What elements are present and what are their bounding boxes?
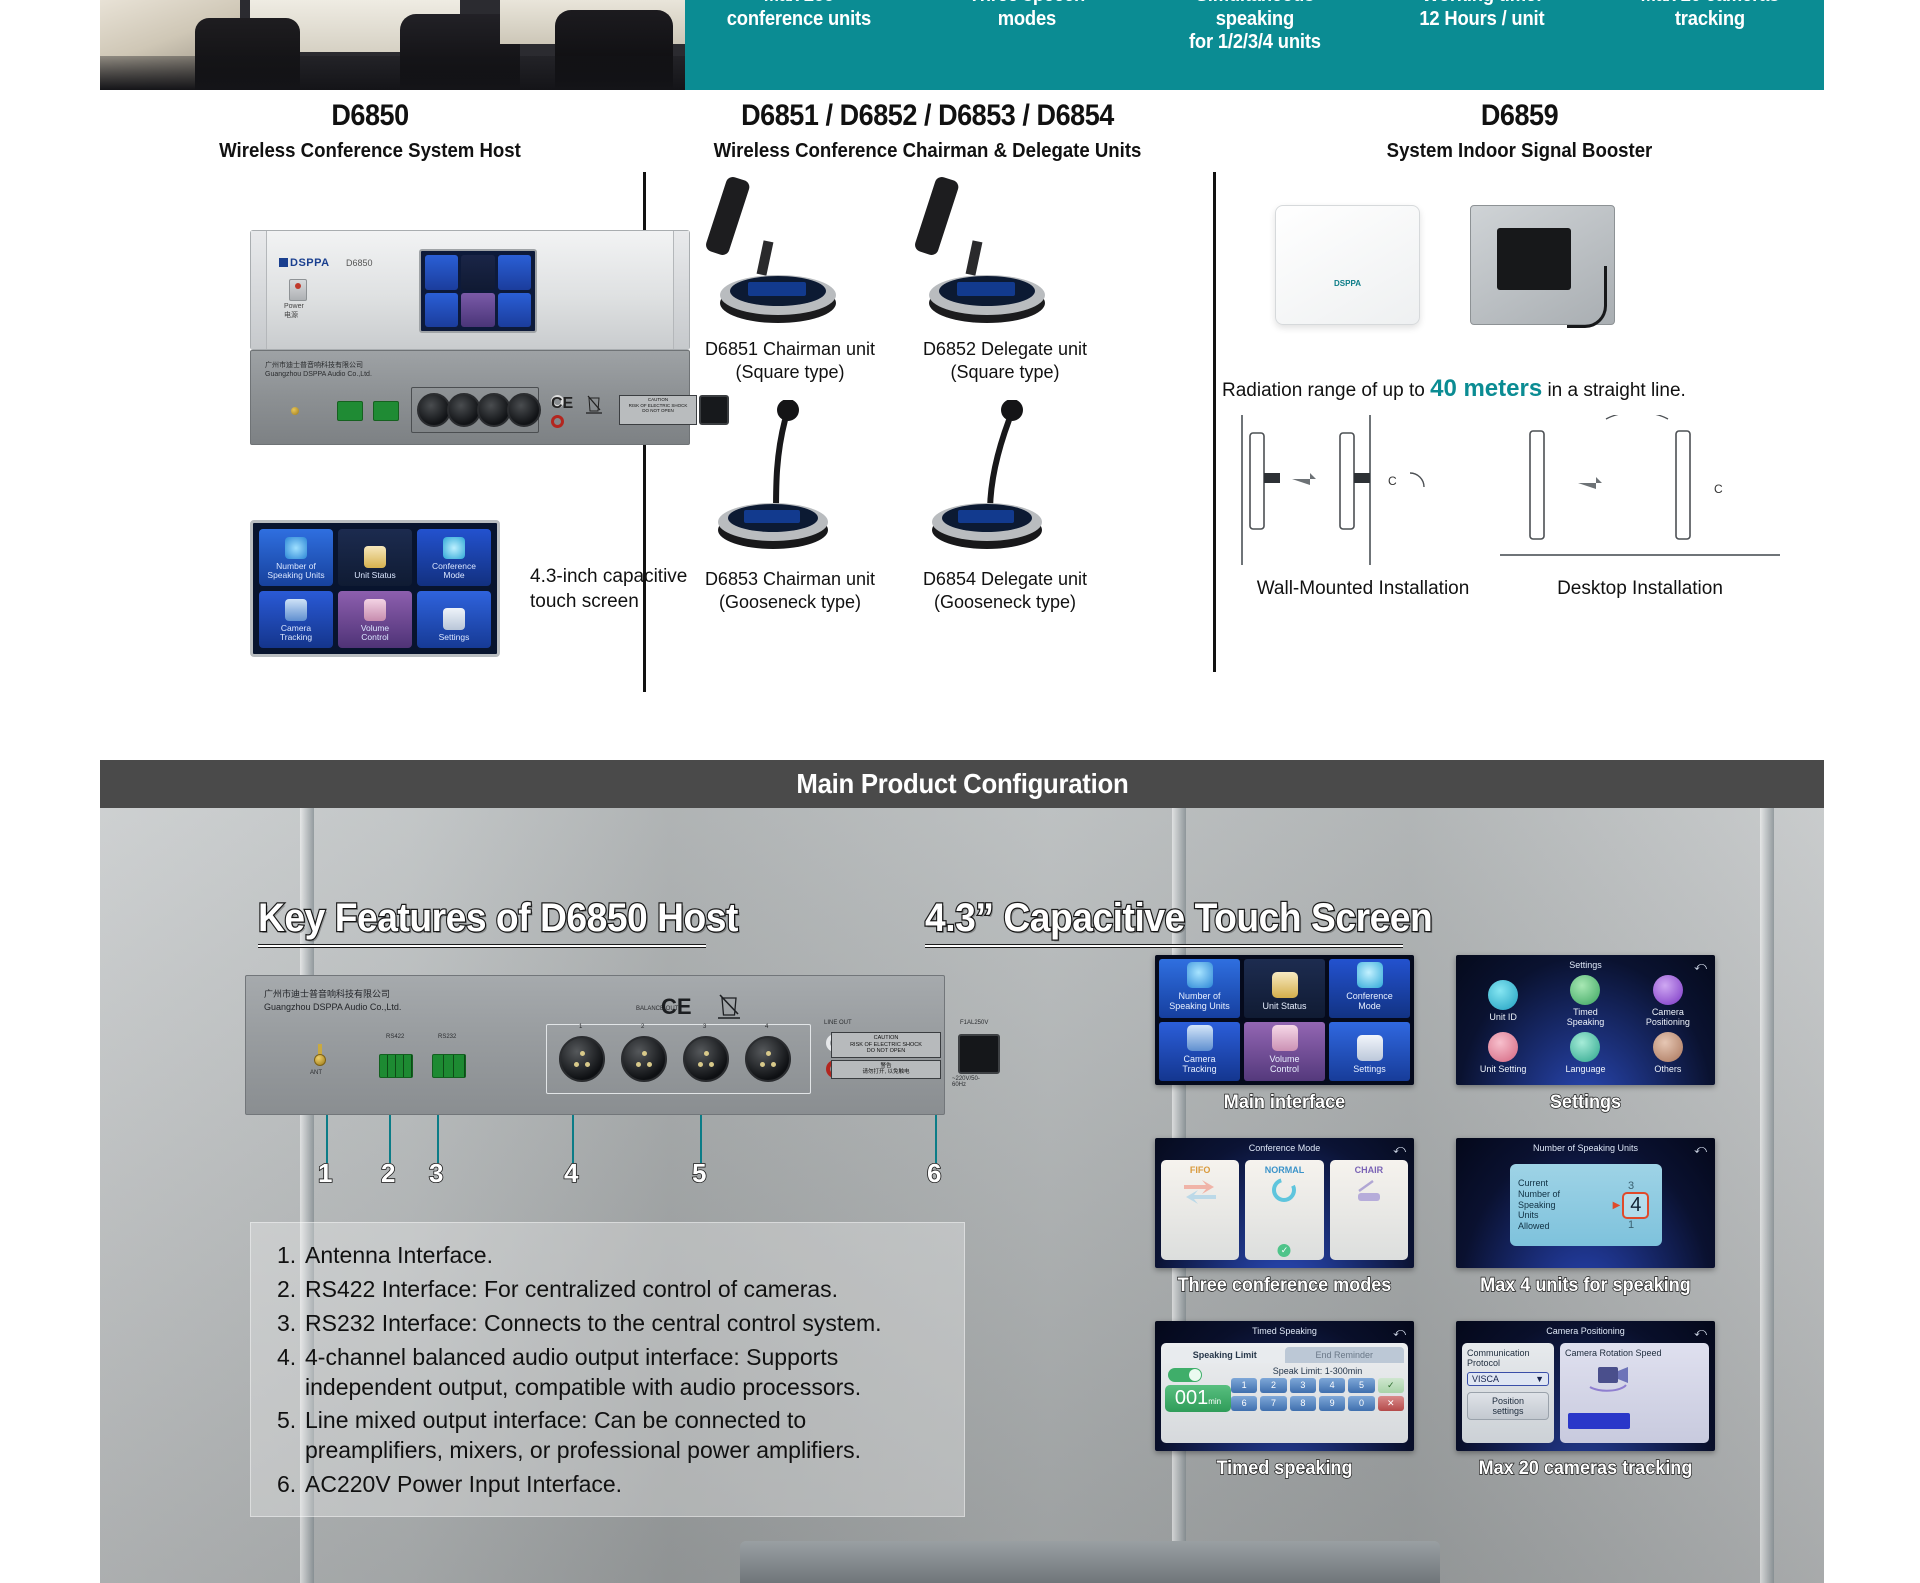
key-0[interactable]: 0 (1348, 1396, 1374, 1411)
setting-label: Unit Setting (1480, 1065, 1527, 1075)
screenshot-settings: Settings ⤺ Unit ID Timed Speaking (1456, 955, 1715, 1085)
booster-bracket (1497, 228, 1571, 290)
setting-camera-positioning[interactable]: Camera Positioning (1627, 975, 1709, 1028)
mode-chair[interactable]: CHAIR (1330, 1160, 1408, 1260)
touchscreen-photo: Number of Speaking Units Unit Status Con… (250, 520, 500, 657)
column-divider-2 (1213, 172, 1216, 672)
caution-labels: CAUTION RISK OF ELECTRIC SHOCK DO NOT OP… (831, 1032, 941, 1076)
timer-mic-icon (1570, 975, 1600, 1005)
left-section-heading: Key Features of D6850 Host (258, 896, 738, 941)
screenshot-caption: Main interface (1161, 1092, 1407, 1114)
mode-cards: FIFO NORMAL ✓ CHAIR (1161, 1160, 1408, 1260)
xlr-output-3 (683, 1036, 729, 1082)
speaking-units-label: Current Number of Speaking Units Allowed (1518, 1178, 1608, 1232)
microphones-icon (1187, 962, 1213, 988)
setting-label: Others (1654, 1065, 1681, 1075)
install-caption-wall: Wall-Mounted Installation (1228, 578, 1498, 600)
xlr-output-4 (507, 393, 541, 427)
lead-4 (572, 1115, 574, 1163)
booster-rear-image (1470, 205, 1615, 325)
feature-item: 1.Antenna Interface. (277, 1241, 942, 1271)
setting-unit-id[interactable]: Unit ID (1462, 975, 1544, 1028)
setting-timed-speaking[interactable]: Timed Speaking (1544, 975, 1626, 1028)
conference-room-photo (100, 0, 685, 90)
xlr-output-2 (621, 1036, 667, 1082)
protocol-section: Communication Protocol VISCA ▼ Position … (1462, 1343, 1554, 1443)
xlr-num-4: 4 (765, 1024, 768, 1030)
tp-tile-5: Settings (417, 591, 491, 648)
feature-text: RS232 Interface: Connects to the central… (305, 1309, 882, 1339)
main-config-title: Main Product Configuration (796, 768, 1128, 800)
screenshot-camera-positioning: Camera Positioning ⤺ Communication Proto… (1456, 1321, 1715, 1451)
ce-mark: CE (551, 395, 573, 413)
mode-fifo[interactable]: FIFO (1161, 1160, 1239, 1260)
clipboard-mic-icon (364, 546, 386, 568)
tile-label: Conference Mode (1346, 992, 1393, 1012)
unit-d6851-image (690, 175, 890, 340)
svg-text:C: C (1388, 474, 1397, 488)
banner-feature-3: Working time: 12 Hours / unit (1378, 0, 1588, 31)
tp-label: Settings (439, 633, 470, 643)
lead-5 (700, 1115, 702, 1163)
callout-2: 2 (381, 1158, 395, 1189)
chevron-down-icon: ▼ (1535, 1374, 1544, 1384)
camera-icon (285, 599, 307, 621)
weee-bin-icon (718, 992, 740, 1020)
value-selected: 4 (1622, 1192, 1649, 1219)
rack-model-print: D6850 (346, 258, 373, 268)
speak-limit-value: 001min (1165, 1385, 1231, 1412)
tp-label: Unit Status (354, 571, 396, 581)
tp-tile-0: Number of Speaking Units (259, 529, 333, 586)
protocol-label: Communication Protocol (1467, 1348, 1549, 1369)
rca-line-out-red (551, 415, 564, 428)
panel-brand-cn: 广州市迪士普音响科技有限公司 (264, 989, 390, 999)
screen-tile (425, 293, 458, 328)
feature-num: 4. (277, 1343, 305, 1403)
lead-1 (326, 1115, 328, 1163)
feature-text: Line mixed output interface: Can be conn… (305, 1406, 942, 1466)
tp-label: Number of Speaking Units (267, 562, 324, 581)
camera-pin-icon (1653, 975, 1683, 1005)
unit-d6854-image (890, 400, 1100, 560)
xlr-output-1 (559, 1036, 605, 1082)
radiation-post: in a straight line. (1542, 380, 1686, 401)
back-icon[interactable]: ⤺ (1393, 1142, 1406, 1157)
rs422-label: RS422 (386, 1034, 404, 1040)
sliders-icon (1357, 1035, 1383, 1061)
tab-speaking-limit[interactable]: Speaking Limit (1165, 1347, 1285, 1363)
feature-num: 6. (277, 1470, 305, 1500)
microphones-icon (285, 537, 307, 559)
language-icon (1570, 1032, 1600, 1062)
brand-en: Guangzhou DSPPA Audio Co.,Ltd. (265, 371, 372, 378)
tp-tile-4: Volume Control (338, 591, 412, 648)
rs232-interface (432, 1054, 466, 1078)
rotation-section: Camera Rotation Speed (1560, 1343, 1709, 1443)
timed-left: 001min (1165, 1366, 1231, 1412)
unit-caption-d6853: D6853 Chairman unit (Gooseneck type) (665, 568, 915, 615)
setting-label: Unit ID (1489, 1013, 1517, 1023)
setting-label: Camera Positioning (1646, 1008, 1690, 1028)
product-subtitle-d6850: Wireless Conference System Host (119, 140, 621, 163)
caution-en: CAUTION RISK OF ELECTRIC SHOCK DO NOT OP… (629, 397, 688, 413)
brand-cn: 广州市迪士普音响科技有限公司 (265, 362, 363, 369)
selector-arrow-icon: ▶ (1613, 1200, 1621, 1211)
rs232-label: RS232 (438, 1034, 456, 1040)
setting-language[interactable]: Language (1544, 1028, 1626, 1079)
booster-front-image: DSPPA (1275, 205, 1420, 325)
wall-install-diagram: C (1228, 415, 1498, 570)
banner-feature-2: Simultaneous speaking for 1/2/3/4 units (1150, 0, 1360, 55)
setting-label: Language (1565, 1065, 1605, 1075)
tile-volume-control[interactable]: Volume Control (1244, 1022, 1325, 1081)
clipboard-mic-icon (1272, 972, 1298, 998)
line-out-label: LINE OUT (824, 1020, 852, 1026)
camera-icon (1187, 1025, 1213, 1051)
setting-label: Timed Speaking (1567, 1008, 1605, 1028)
radiation-highlight: 40 meters (1430, 375, 1542, 402)
rotation-label: Camera Rotation Speed (1565, 1348, 1704, 1358)
caution-en: CAUTION RISK OF ELECTRIC SHOCK DO NOT OP… (831, 1032, 941, 1058)
product-title-d6859: D6859 (1245, 100, 1793, 132)
mode-label: CHAIR (1355, 1165, 1384, 1175)
screenshot-caption: Max 20 cameras tracking (1462, 1458, 1708, 1480)
value-below: 1 (1608, 1219, 1654, 1231)
xlr-output-2 (447, 393, 481, 427)
screen-row-1: Number of Speaking Units Unit Status Con… (1155, 955, 1715, 1114)
feature-num: 5. (277, 1406, 305, 1466)
rs422-interface (379, 1054, 413, 1078)
key-6[interactable]: 6 (1231, 1396, 1257, 1411)
speaking-units-card: Current Number of Speaking Units Allowed… (1510, 1164, 1662, 1246)
ac220v-power-inlet (958, 1034, 1000, 1074)
screen-title: Camera Positioning (1456, 1326, 1715, 1336)
feature-item: 2.RS422 Interface: For centralized contr… (277, 1275, 942, 1305)
camera-rotate-icon (1582, 1361, 1634, 1397)
podium-base (740, 1541, 1440, 1583)
xlr-num-1: 1 (579, 1024, 582, 1030)
key-confirm[interactable]: ✓ (1378, 1378, 1404, 1393)
setting-unit-setting[interactable]: Unit Setting (1462, 1028, 1544, 1079)
tile-unit-status[interactable]: Unit Status (1244, 959, 1325, 1018)
unit-id-icon (1488, 980, 1518, 1010)
setting-others[interactable]: Others (1627, 1028, 1709, 1079)
screen-cell-timed-speaking: Timed Speaking ⤺ Speaking Limit End Remi… (1155, 1321, 1414, 1480)
top-banner: Max 255 conference units Three speech mo… (100, 0, 1824, 90)
feature-text: 4-channel balanced audio output interfac… (305, 1343, 942, 1403)
lead-6 (935, 1115, 937, 1163)
mode-label: NORMAL (1265, 1165, 1305, 1175)
feature-text: Antenna Interface. (305, 1241, 493, 1271)
antenna-interface (314, 1054, 326, 1066)
xlr-num-2: 2 (641, 1024, 644, 1030)
fifo-arrows-icon (1180, 1175, 1220, 1205)
rear-panel-diagram: 广州市迪士普音响科技有限公司 Guangzhou DSPPA Audio Co.… (245, 975, 945, 1115)
screenshot-speaking-units: Number of Speaking Units ⤺ Current Numbe… (1456, 1138, 1715, 1268)
ce-mark: CE (661, 994, 692, 1020)
numeric-keypad: 1 2 3 4 5 ✓ 6 7 8 9 (1231, 1378, 1404, 1411)
screenshot-main-interface: Number of Speaking Units Unit Status Con… (1155, 955, 1414, 1085)
ant-label: ANT (310, 1070, 322, 1076)
tp-label: Volume Control (361, 624, 389, 643)
key-2[interactable]: 2 (1260, 1378, 1286, 1393)
product-subtitle-units: Wireless Conference Chairman & Delegate … (665, 140, 1190, 163)
product-title-units: D6851 / D6852 / D6853 / D6854 (673, 100, 1182, 132)
panel-brand-en: Guangzhou DSPPA Audio Co.,Ltd. (264, 1002, 401, 1012)
tp-tile-1: Unit Status (338, 529, 412, 586)
callout-3: 3 (429, 1158, 443, 1189)
screen-row-2: Conference Mode ⤺ FIFO NORMAL ✓ (1155, 1138, 1715, 1297)
network-icon (1357, 962, 1383, 988)
screenshot-conference-mode: Conference Mode ⤺ FIFO NORMAL ✓ (1155, 1138, 1414, 1268)
mic-gear-icon (1488, 1032, 1518, 1062)
key-8[interactable]: 8 (1290, 1396, 1316, 1411)
svg-text:C: C (1714, 482, 1723, 496)
feature-list-box: 1.Antenna Interface. 2.RS422 Interface: … (250, 1222, 965, 1517)
booster-cable (1567, 266, 1607, 328)
booster-logo: DSPPA (1334, 279, 1361, 288)
radiation-range-text: Radiation range of up to 40 meters in a … (1222, 375, 1822, 403)
unit-d6853-image (680, 400, 890, 560)
xlr-output-3 (477, 393, 511, 427)
unit-caption-d6851: D6851 Chairman unit (Square type) (670, 338, 910, 385)
rear-brand-text: 广州市迪士普音响科技有限公司 Guangzhou DSPPA Audio Co.… (265, 361, 372, 380)
key-1[interactable]: 1 (1231, 1378, 1257, 1393)
product-subtitle-d6859: System Indoor Signal Booster (1236, 140, 1802, 163)
glass-column-right (1760, 808, 1774, 1583)
callout-4: 4 (564, 1158, 578, 1189)
position-settings-button[interactable]: Position settings (1467, 1392, 1549, 1421)
right-heading-underline (925, 944, 1403, 948)
callout-5: 5 (692, 1158, 706, 1189)
banner-feature-0: Max 255 conference units (694, 0, 904, 31)
screenshot-timed-speaking: Timed Speaking ⤺ Speaking Limit End Remi… (1155, 1321, 1414, 1451)
feature-item: 3.RS232 Interface: Connects to the centr… (277, 1309, 942, 1339)
lead-3 (437, 1115, 439, 1163)
install-caption-desktop: Desktop Installation (1500, 578, 1780, 600)
caution-cn: 警告 请勿打开, 以免触电 (831, 1060, 941, 1079)
others-icon (1653, 1032, 1683, 1062)
unit-d6852-image (895, 175, 1095, 340)
mode-normal[interactable]: NORMAL ✓ (1245, 1160, 1323, 1260)
screen-tile (498, 255, 531, 290)
tile-label: Unit Status (1262, 1002, 1306, 1012)
tp-tile-2: Conference Mode (417, 529, 491, 586)
timed-tabs: Speaking Limit End Reminder (1165, 1347, 1404, 1363)
datasheet-page: Max 255 conference units Three speech mo… (0, 0, 1920, 1583)
protocol-value: VISCA (1472, 1374, 1499, 1384)
product-column-d6859: D6859 System Indoor Signal Booster (1215, 100, 1824, 163)
camera-positioning-panel: Communication Protocol VISCA ▼ Position … (1462, 1343, 1709, 1443)
xlr-output-1 (417, 393, 451, 427)
tile-conference-mode[interactable]: Conference Mode (1329, 959, 1410, 1018)
tile-number-speaking-units[interactable]: Number of Speaking Units (1159, 959, 1240, 1018)
volume-icon (364, 599, 386, 621)
left-heading-underline (258, 944, 706, 948)
timed-right: Speak Limit: 1-300min 1 2 3 4 5 ✓ 6 7 (1231, 1366, 1404, 1412)
weee-bin-icon (586, 393, 602, 415)
selected-check-icon: ✓ (1278, 1244, 1291, 1257)
rs422-terminal (337, 401, 363, 421)
chair-mic-icon (1349, 1175, 1389, 1205)
screen-tile (498, 293, 531, 328)
speaking-units-picker[interactable]: 3 ▶ 4 1 (1608, 1180, 1654, 1231)
screen-cell-camera-positioning: Camera Positioning ⤺ Communication Proto… (1456, 1321, 1715, 1480)
tab-end-reminder[interactable]: End Reminder (1285, 1347, 1405, 1363)
banner-feature-strip: Max 255 conference units Three speech mo… (685, 0, 1824, 90)
antenna-connector (291, 407, 299, 415)
main-config-bar: Main Product Configuration (100, 760, 1824, 808)
panel-brand: 广州市迪士普音响科技有限公司 Guangzhou DSPPA Audio Co.… (264, 988, 401, 1014)
key-5[interactable]: 5 (1348, 1378, 1374, 1393)
feature-item: 4.4-channel balanced audio output interf… (277, 1343, 942, 1403)
speaking-limit-toggle[interactable] (1168, 1368, 1202, 1382)
screen-tile (461, 293, 494, 328)
back-icon[interactable]: ⤺ (1694, 959, 1707, 974)
radiation-pre: Radiation range of up to (1222, 380, 1430, 401)
power-label: Power电源 (284, 303, 304, 320)
screenshot-caption: Max 4 units for speaking (1462, 1275, 1708, 1297)
lead-2 (389, 1115, 391, 1163)
tile-label: Volume Control (1269, 1055, 1299, 1075)
product-columns: D6850 Wireless Conference System Host DS… (100, 100, 1824, 760)
tile-label: Settings (1353, 1065, 1386, 1075)
key-4[interactable]: 4 (1319, 1378, 1345, 1393)
key-9[interactable]: 9 (1319, 1396, 1345, 1411)
screen-title: Number of Speaking Units (1456, 1143, 1715, 1153)
host-front-touchscreen[interactable] (419, 249, 537, 333)
tp-label: Camera Tracking (280, 624, 312, 643)
feature-item: 6.AC220V Power Input Interface. (277, 1470, 942, 1500)
value-above: 3 (1608, 1180, 1654, 1192)
network-icon (443, 537, 465, 559)
key-delete[interactable]: ✕ (1378, 1396, 1404, 1411)
feature-text: RS422 Interface: For centralized control… (305, 1275, 838, 1305)
banner-feature-1: Three speech modes (922, 0, 1132, 31)
d6850-host-front-image: DSPPA D6850 Power电源 (250, 230, 690, 350)
back-icon[interactable]: ⤺ (1393, 1325, 1406, 1340)
limit-unit: min (1208, 1397, 1221, 1406)
screen-cell-main: Number of Speaking Units Unit Status Con… (1155, 955, 1414, 1114)
timed-speaking-panel: Speaking Limit End Reminder 001min (1161, 1343, 1408, 1443)
callout-1: 1 (318, 1158, 332, 1189)
touchscreen-gallery: Number of Speaking Units Unit Status Con… (1155, 955, 1715, 1504)
right-section-heading: 4.3” Capacitive Touch Screen (925, 896, 1432, 941)
feature-num: 3. (277, 1309, 305, 1339)
unit-caption-d6854: D6854 Delegate unit (Gooseneck type) (880, 568, 1130, 615)
xlr-output-4 (745, 1036, 791, 1082)
screen-row-3: Timed Speaking ⤺ Speaking Limit End Remi… (1155, 1321, 1715, 1480)
rotation-speed-slider[interactable] (1568, 1413, 1630, 1429)
tile-label: Number of Speaking Units (1169, 992, 1230, 1012)
feature-num: 1. (277, 1241, 305, 1271)
volume-icon (1272, 1025, 1298, 1051)
feature-text: AC220V Power Input Interface. (305, 1470, 622, 1500)
screen-title: Timed Speaking (1155, 1326, 1414, 1336)
screenshot-caption: Settings (1462, 1092, 1708, 1114)
speak-limit-range: Speak Limit: 1-300min (1231, 1366, 1404, 1376)
settings-grid: Unit ID Timed Speaking Camera Positionin… (1462, 975, 1709, 1079)
callout-6: 6 (927, 1158, 941, 1189)
back-icon[interactable]: ⤺ (1694, 1325, 1707, 1340)
tile-label: Camera Tracking (1182, 1055, 1216, 1075)
power-led (295, 283, 301, 289)
screenshot-caption: Timed speaking (1161, 1458, 1407, 1480)
screen-title: Conference Mode (1155, 1143, 1414, 1153)
d6850-host-rear-image: 广州市迪士普音响科技有限公司 Guangzhou DSPPA Audio Co.… (250, 350, 690, 445)
key-3[interactable]: 3 (1290, 1378, 1316, 1393)
screen-tile (461, 255, 494, 290)
rs232-terminal (373, 401, 399, 421)
feature-num: 2. (277, 1275, 305, 1305)
feature-list: 1.Antenna Interface. 2.RS422 Interface: … (251, 1223, 964, 1500)
tp-tile-3: Camera Tracking (259, 591, 333, 648)
xlr-num-3: 3 (703, 1024, 706, 1030)
protocol-select[interactable]: VISCA ▼ (1467, 1372, 1549, 1386)
key-7[interactable]: 7 (1260, 1396, 1286, 1411)
mode-label: FIFO (1190, 1165, 1211, 1175)
product-column-d6850: D6850 Wireless Conference System Host (100, 100, 640, 163)
screen-cell-speaking-units: Number of Speaking Units ⤺ Current Numbe… (1456, 1138, 1715, 1297)
product-column-units: D6851 / D6852 / D6853 / D6854 Wireless C… (645, 100, 1210, 163)
fuse-label: F1AL250V (960, 1020, 988, 1026)
back-icon[interactable]: ⤺ (1694, 1142, 1707, 1157)
screen-cell-settings: Settings ⤺ Unit ID Timed Speaking (1456, 955, 1715, 1114)
tile-settings[interactable]: Settings (1329, 1022, 1410, 1081)
power-note: ~220V/50-60Hz (952, 1076, 980, 1088)
screenshot-caption: Three conference modes (1161, 1275, 1407, 1297)
sliders-icon (443, 608, 465, 630)
limit-number: 001 (1175, 1387, 1208, 1409)
main-tiles: Number of Speaking Units Unit Status Con… (1159, 959, 1410, 1081)
dsppa-logo: DSPPA (279, 257, 330, 269)
banner-feature-4: Max 20 cameras tracking (1605, 0, 1815, 31)
unit-caption-d6852: D6852 Delegate unit (Square type) (885, 338, 1125, 385)
tp-label: Conference Mode (432, 562, 476, 581)
screen-tile (425, 255, 458, 290)
screen-cell-conference-mode: Conference Mode ⤺ FIFO NORMAL ✓ (1155, 1138, 1414, 1297)
desktop-install-diagram: C (1500, 415, 1780, 570)
normal-loop-icon (1268, 1175, 1300, 1205)
timed-body: 001min Speak Limit: 1-300min 1 2 3 4 (1165, 1366, 1404, 1412)
product-title-d6850: D6850 (127, 100, 613, 132)
feature-item: 5.Line mixed output interface: Can be co… (277, 1406, 942, 1466)
tile-camera-tracking[interactable]: Camera Tracking (1159, 1022, 1240, 1081)
screen-title: Settings (1456, 960, 1715, 970)
